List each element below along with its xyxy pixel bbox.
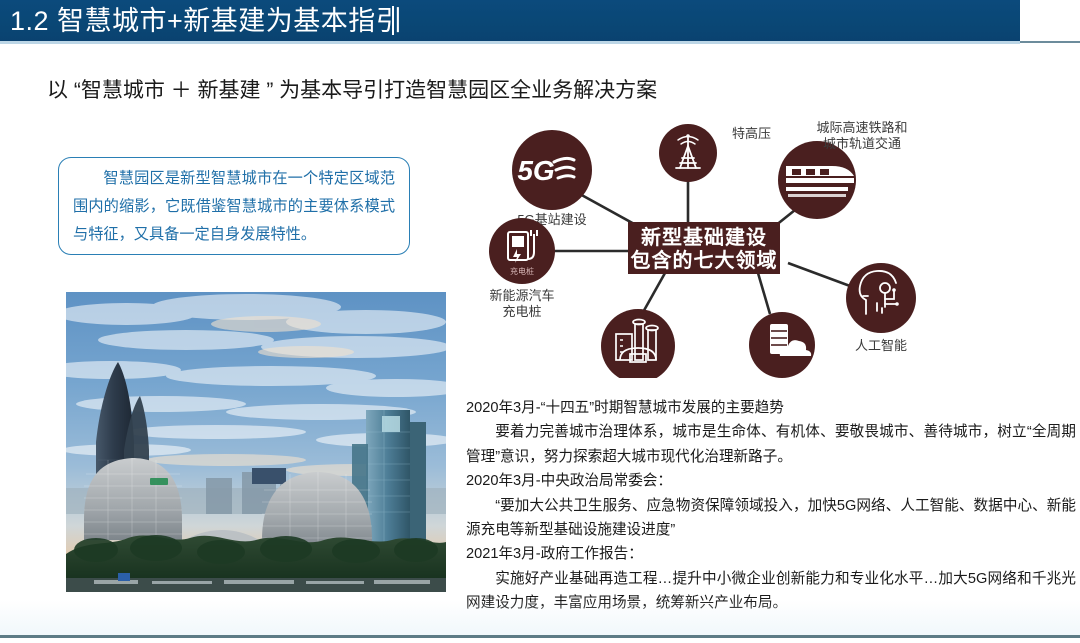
center-label-line2: 包含的七大领域 — [631, 248, 778, 272]
diagram-node-uhv[interactable]: 特高压 — [659, 124, 771, 182]
subtitle: 以 “智慧城市 ＋ 新基建 ” 为基本导引打造智慧园区全业务解决方案 — [47, 76, 657, 106]
diagram-node-iiot[interactable]: 工业互联网 — [601, 309, 675, 378]
slide-root: 1.2 智慧城市+新基建为基本指引 以 “智慧城市 ＋ 新基建 ” 为基本导引打… — [0, 0, 1080, 643]
bottom-tint — [0, 600, 1080, 635]
center-label-line1: 新型基础建设 — [641, 225, 767, 249]
svg-text:充电桩: 充电桩 — [510, 266, 534, 276]
header-bar: 1.2 智慧城市+新基建为基本指引 — [0, 0, 1020, 41]
diagram-node-5g[interactable]: 5G 5G基站建设 — [512, 130, 592, 227]
note-3-title: 2021年3月-政府工作报告： — [466, 542, 1076, 566]
note-2-title: 2020年3月-中央政治局常委会： — [466, 469, 1076, 493]
callout-text: 智慧园区是新型智慧城市在一个特定区域范围内的缩影，它既借鉴智慧城市的主要体系模式… — [73, 165, 395, 249]
note-1-text: 要着力完善城市治理体系，城市是生命体、有机体、要敬畏城市、善待城市，树立“全周期… — [466, 420, 1076, 469]
diagram-center-plaque: 新型基础建设 包含的七大领域 — [628, 222, 780, 274]
header-underline — [0, 41, 1020, 44]
policy-notes: 2020年3月-“十四五”时期智慧城市发展的主要趋势 要着力完善城市治理体系，城… — [466, 396, 1076, 616]
page-title: 1.2 智慧城市+新基建为基本指引 — [10, 4, 403, 38]
seven-domains-diagram: .lbl{font-family:"Liberation Sans","Deja… — [470, 118, 970, 378]
diagram-node-label-line2: 充电桩 — [502, 304, 541, 319]
diagram-node-rail[interactable]: 城际高速铁路和 城市轨道交通 — [778, 120, 908, 219]
city-skyline-photo — [66, 292, 446, 592]
diagram-node-label-line1: 城际高速铁路和 — [816, 120, 907, 135]
diagram-node-label: 特高压 — [732, 126, 771, 141]
diagram-node-label-line2: 城市轨道交通 — [823, 136, 901, 151]
diagram-node-bigdata[interactable]: 大数据中心 — [749, 312, 815, 378]
note-1-title: 2020年3月-“十四五”时期智慧城市发展的主要趋势 — [466, 396, 1076, 420]
bottom-rule — [0, 635, 1080, 638]
diagram-node-label-line1: 新能源汽车 — [489, 288, 554, 303]
note-2-text: “要加大公共卫生服务、应急物资保障领域投入，加快5G网络、人工智能、数据中心、新… — [466, 494, 1076, 543]
svg-text:5G: 5G — [517, 155, 554, 186]
title-caret — [392, 6, 394, 35]
header-underline-right — [1020, 41, 1080, 43]
diagram-node-label: 人工智能 — [855, 338, 907, 353]
diagram-node-ev[interactable]: 充电桩 新能源汽车 充电桩 — [489, 218, 555, 319]
callout-box: 智慧园区是新型智慧城市在一个特定区域范围内的缩影，它既借鉴智慧城市的主要体系模式… — [58, 157, 410, 255]
diagram-node-ai[interactable]: 人工智能 — [846, 263, 916, 353]
